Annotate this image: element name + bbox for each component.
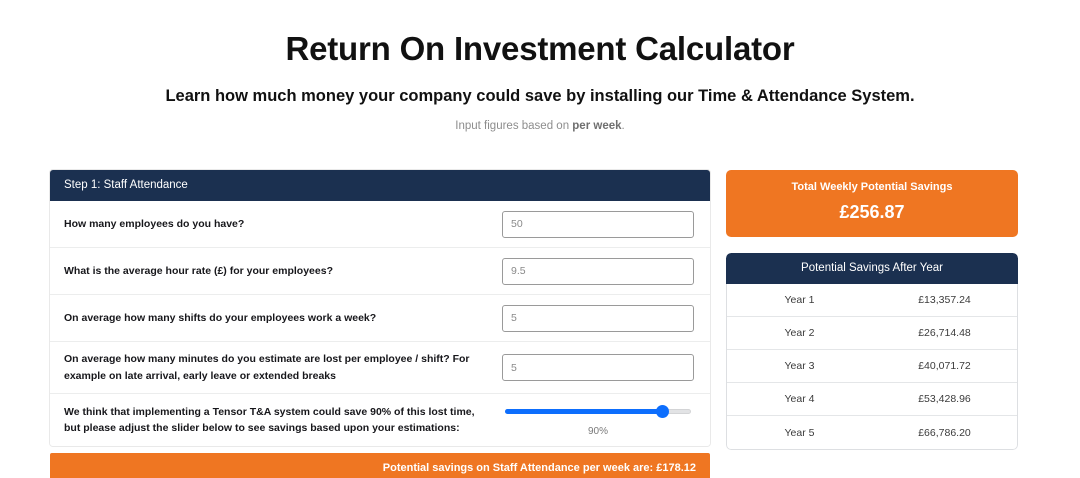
form-row-shifts: On average how many shifts do your emplo…: [50, 295, 710, 342]
table-row: Year 1 £13,357.24: [727, 284, 1017, 317]
page-subtitle: Learn how much money your company could …: [0, 68, 1080, 106]
total-weekly-savings-label: Total Weekly Potential Savings: [736, 181, 1008, 193]
year-amount: £26,714.48: [872, 327, 1017, 339]
shifts-input[interactable]: [502, 305, 694, 332]
form-row-savings-slider: We think that implementing a Tensor T&A …: [50, 394, 710, 446]
form-label-savings-slider: We think that implementing a Tensor T&A …: [64, 404, 502, 437]
page-title: Return On Investment Calculator: [0, 0, 1080, 68]
savings-slider-wrap: 90%: [502, 404, 694, 437]
form-label-hour-rate: What is the average hour rate (£) for yo…: [64, 263, 502, 279]
form-label-shifts: On average how many shifts do your emplo…: [64, 310, 502, 326]
year-amount: £13,357.24: [872, 294, 1017, 306]
minutes-lost-input[interactable]: [502, 354, 694, 381]
table-row: Year 4 £53,428.96: [727, 383, 1017, 416]
year-amount: £40,071.72: [872, 360, 1017, 372]
slider-value-label: 90%: [502, 418, 694, 437]
page-note: Input figures based on per week.: [0, 106, 1080, 132]
total-weekly-savings-value: £256.87: [736, 193, 1008, 223]
year-label: Year 5: [727, 427, 872, 439]
form-label-minutes-lost: On average how many minutes do you estim…: [64, 351, 502, 384]
page-note-emphasis: per week: [572, 120, 621, 132]
form-row-employees: How many employees do you have?: [50, 201, 710, 248]
year-amount: £53,428.96: [872, 393, 1017, 405]
roi-calculator-page: Return On Investment Calculator Learn ho…: [0, 0, 1080, 478]
form-control-savings-slider: 90%: [502, 404, 694, 437]
page-header: Return On Investment Calculator Learn ho…: [0, 0, 1080, 132]
year-amount: £66,786.20: [872, 427, 1017, 439]
page-note-prefix: Input figures based on: [455, 120, 572, 132]
table-row: Year 2 £26,714.48: [727, 317, 1017, 350]
table-row: Year 3 £40,071.72: [727, 350, 1017, 383]
content-columns: Step 1: Staff Attendance How many employ…: [0, 170, 1080, 478]
table-row: Year 5 £66,786.20: [727, 416, 1017, 449]
hour-rate-input[interactable]: [502, 258, 694, 285]
staff-attendance-panel: Step 1: Staff Attendance How many employ…: [50, 170, 710, 446]
year-label: Year 4: [727, 393, 872, 405]
total-weekly-savings-card: Total Weekly Potential Savings £256.87: [726, 170, 1018, 237]
form-row-minutes-lost: On average how many minutes do you estim…: [50, 342, 710, 394]
form-control-hour-rate: [502, 258, 694, 285]
staff-attendance-result-bar: Potential savings on Staff Attendance pe…: [50, 453, 710, 478]
year-label: Year 3: [727, 360, 872, 372]
form-control-shifts: [502, 305, 694, 332]
page-note-suffix: .: [622, 120, 625, 132]
form-control-employees: [502, 211, 694, 238]
form-column: Step 1: Staff Attendance How many employ…: [50, 170, 710, 478]
slider-fill: [505, 409, 663, 414]
employees-input[interactable]: [502, 211, 694, 238]
form-row-hour-rate: What is the average hour rate (£) for yo…: [50, 248, 710, 295]
step-title: Step 1: Staff Attendance: [50, 170, 710, 201]
yearly-savings-table-header: Potential Savings After Year: [726, 253, 1018, 284]
form-control-minutes-lost: [502, 354, 694, 381]
savings-slider[interactable]: [505, 404, 691, 418]
year-label: Year 1: [727, 294, 872, 306]
yearly-savings-table: Potential Savings After Year Year 1 £13,…: [726, 253, 1018, 450]
year-label: Year 2: [727, 327, 872, 339]
slider-thumb[interactable]: [656, 405, 669, 418]
yearly-savings-table-body: Year 1 £13,357.24 Year 2 £26,714.48 Year…: [726, 284, 1018, 450]
summary-column: Total Weekly Potential Savings £256.87 P…: [726, 170, 1018, 450]
form-label-employees: How many employees do you have?: [64, 216, 502, 232]
